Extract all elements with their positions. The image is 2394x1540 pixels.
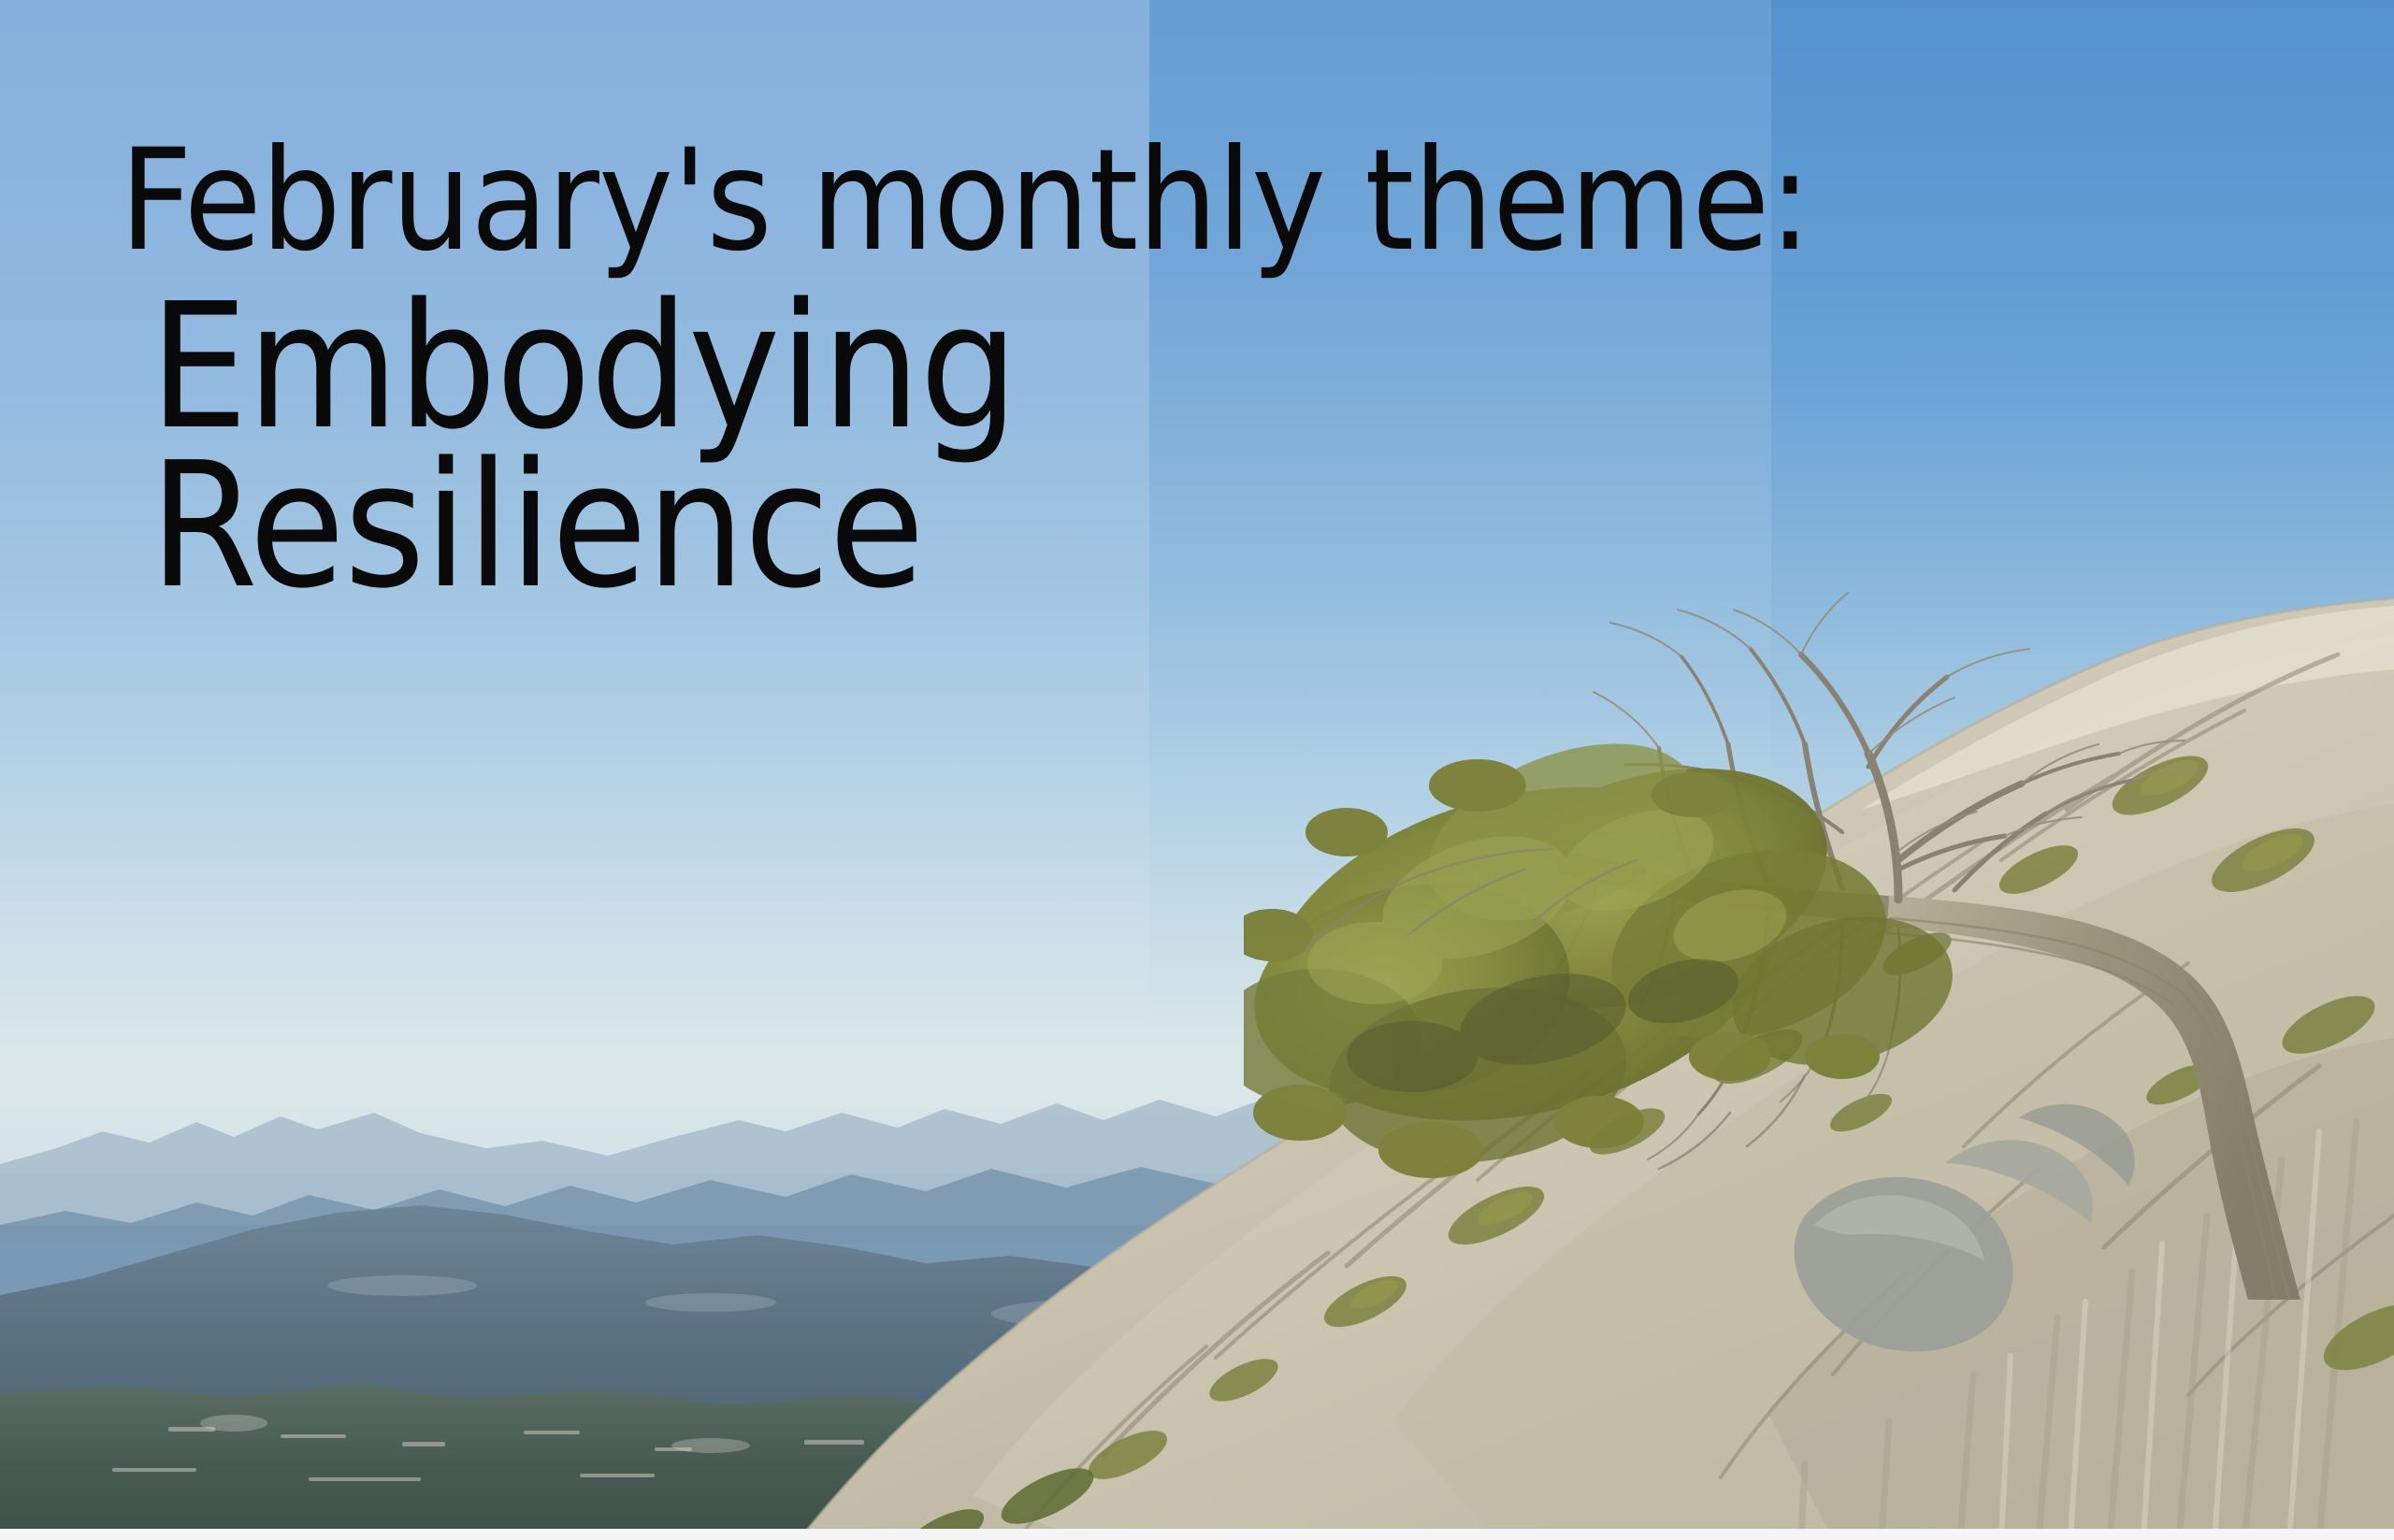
forested-valley — [0, 1337, 2394, 1540]
bottom-edge-strip — [0, 1529, 2394, 1540]
wind-swept-tree — [1244, 552, 2394, 1300]
tree-foliage — [1244, 709, 1969, 1182]
theme-banner: February's monthly theme: Embodying Resi… — [0, 0, 2394, 1540]
